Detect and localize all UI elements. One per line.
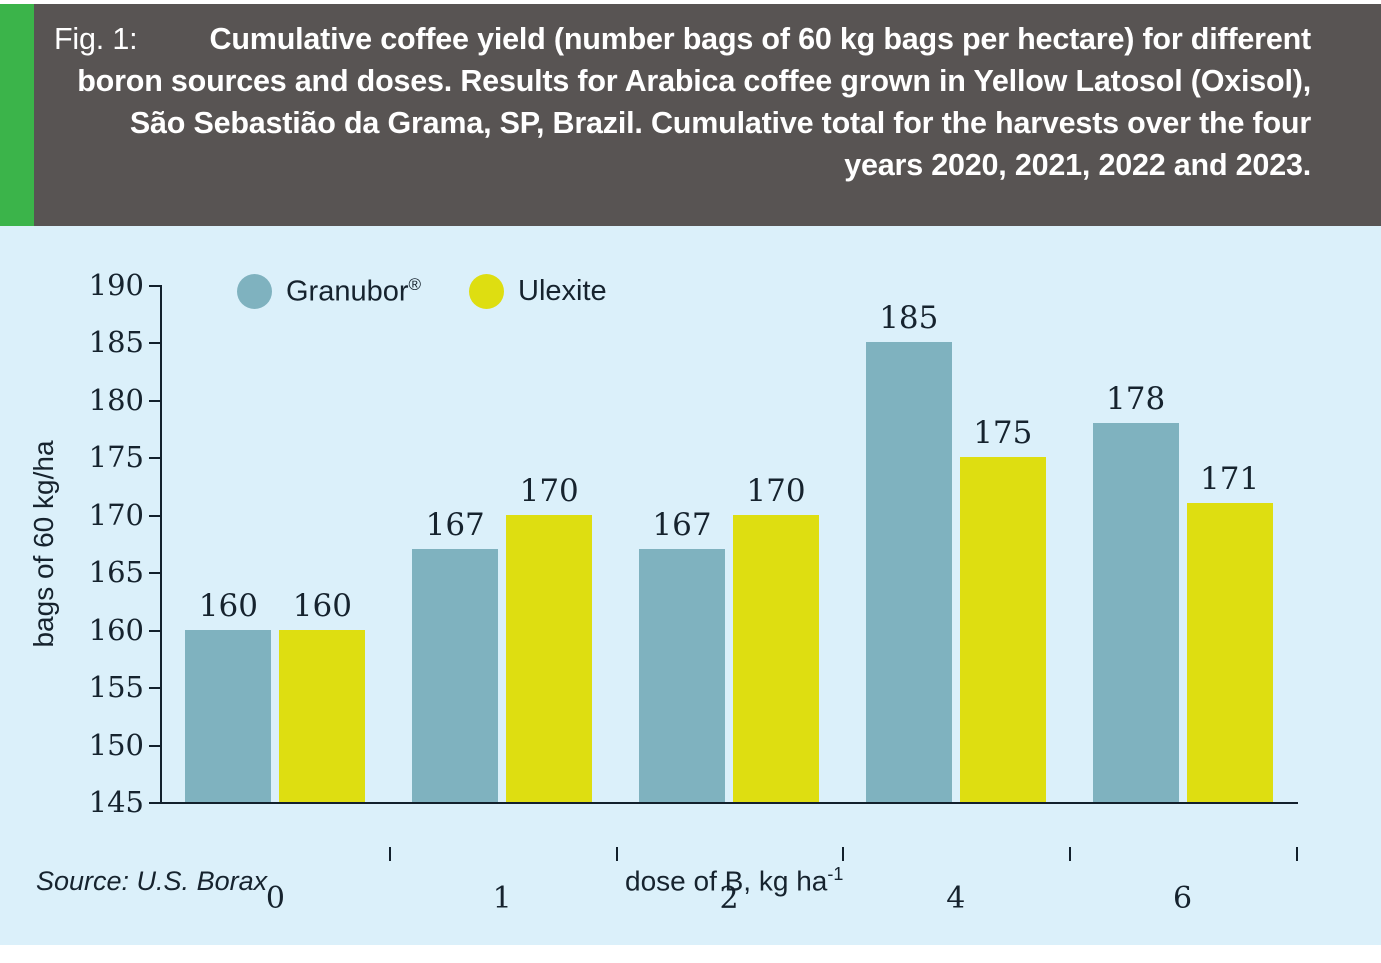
bar-value-label: 185 bbox=[879, 300, 938, 336]
source-note: Source: U.S. Borax bbox=[36, 866, 267, 897]
bar-ulexite-4[interactable]: 175 bbox=[960, 457, 1046, 802]
y-axis-tick bbox=[149, 802, 160, 804]
bar-granubor-6[interactable]: 178 bbox=[1093, 423, 1179, 802]
bar-ulexite-0[interactable]: 160 bbox=[279, 630, 365, 802]
x-axis-end-tick bbox=[1296, 847, 1298, 861]
y-axis-title: bags of 60 kg/ha bbox=[28, 440, 60, 647]
y-axis-tick bbox=[149, 687, 160, 689]
x-axis-category-label: 4 bbox=[946, 881, 965, 916]
x-axis-separator-tick bbox=[616, 847, 618, 861]
bar-ulexite-2[interactable]: 170 bbox=[733, 515, 819, 802]
x-axis-title-exponent: -1 bbox=[827, 864, 843, 884]
bar-value-label: 170 bbox=[520, 473, 579, 509]
x-axis-category-label: 2 bbox=[719, 881, 738, 916]
y-axis-tick-label: 175 bbox=[89, 440, 144, 474]
figure-caption: Fig. 1:Cumulative coffee yield (number b… bbox=[54, 18, 1311, 186]
bar-ulexite-1[interactable]: 170 bbox=[506, 515, 592, 802]
bar-ulexite-6[interactable]: 171 bbox=[1187, 503, 1273, 802]
plot-area: 1901851801751701651601551501450160160116… bbox=[162, 285, 1296, 802]
y-axis-tick-label: 185 bbox=[89, 325, 144, 359]
bar-value-label: 167 bbox=[426, 507, 485, 543]
y-axis-tick-label: 165 bbox=[89, 555, 144, 589]
y-axis-tick bbox=[149, 342, 160, 344]
y-axis-tick-label: 150 bbox=[89, 728, 144, 762]
bar-value-label: 170 bbox=[746, 473, 805, 509]
x-axis-category-label: 6 bbox=[1173, 881, 1192, 916]
bar-value-label: 167 bbox=[652, 507, 711, 543]
y-axis-tick-label: 160 bbox=[89, 613, 144, 647]
y-axis-tick-label: 170 bbox=[89, 498, 144, 532]
x-axis-category-label: 1 bbox=[493, 881, 512, 916]
x-axis-line bbox=[160, 802, 1298, 804]
y-axis-tick bbox=[149, 572, 160, 574]
bar-value-label: 178 bbox=[1106, 381, 1165, 417]
figure-header: Fig. 1:Cumulative coffee yield (number b… bbox=[0, 4, 1381, 226]
bar-granubor-4[interactable]: 185 bbox=[866, 342, 952, 802]
x-axis-separator-tick bbox=[1069, 847, 1071, 861]
y-axis-tick-label: 155 bbox=[89, 670, 144, 704]
y-axis-tick bbox=[149, 745, 160, 747]
x-axis-category-label: 0 bbox=[266, 881, 285, 916]
y-axis-tick-label: 145 bbox=[89, 785, 144, 819]
y-axis-tick bbox=[149, 630, 160, 632]
bar-granubor-1[interactable]: 167 bbox=[412, 549, 498, 802]
x-axis-separator-tick bbox=[389, 847, 391, 861]
x-axis-separator-tick bbox=[842, 847, 844, 861]
y-axis-tick-label: 180 bbox=[89, 383, 144, 417]
chart-panel: bags of 60 kg/ha dose of B, kg ha-1 Gran… bbox=[0, 226, 1381, 945]
bar-value-label: 160 bbox=[293, 588, 352, 624]
figure-container: Fig. 1:Cumulative coffee yield (number b… bbox=[0, 0, 1381, 963]
figure-caption-text: Cumulative coffee yield (number bags of … bbox=[77, 22, 1311, 182]
figure-number-label: Fig. 1: bbox=[54, 18, 137, 60]
y-axis-tick-label: 190 bbox=[89, 268, 144, 302]
bar-value-label: 175 bbox=[973, 415, 1032, 451]
header-accent-bar bbox=[0, 4, 34, 226]
y-axis-tick bbox=[149, 400, 160, 402]
bar-granubor-2[interactable]: 167 bbox=[639, 549, 725, 802]
y-axis-tick bbox=[149, 515, 160, 517]
bar-granubor-0[interactable]: 160 bbox=[185, 630, 271, 802]
bar-value-label: 171 bbox=[1200, 461, 1259, 497]
header-text-wrapper: Fig. 1:Cumulative coffee yield (number b… bbox=[40, 4, 1381, 186]
y-axis-tick bbox=[149, 285, 160, 287]
y-axis-tick bbox=[149, 457, 160, 459]
bar-value-label: 160 bbox=[199, 588, 258, 624]
